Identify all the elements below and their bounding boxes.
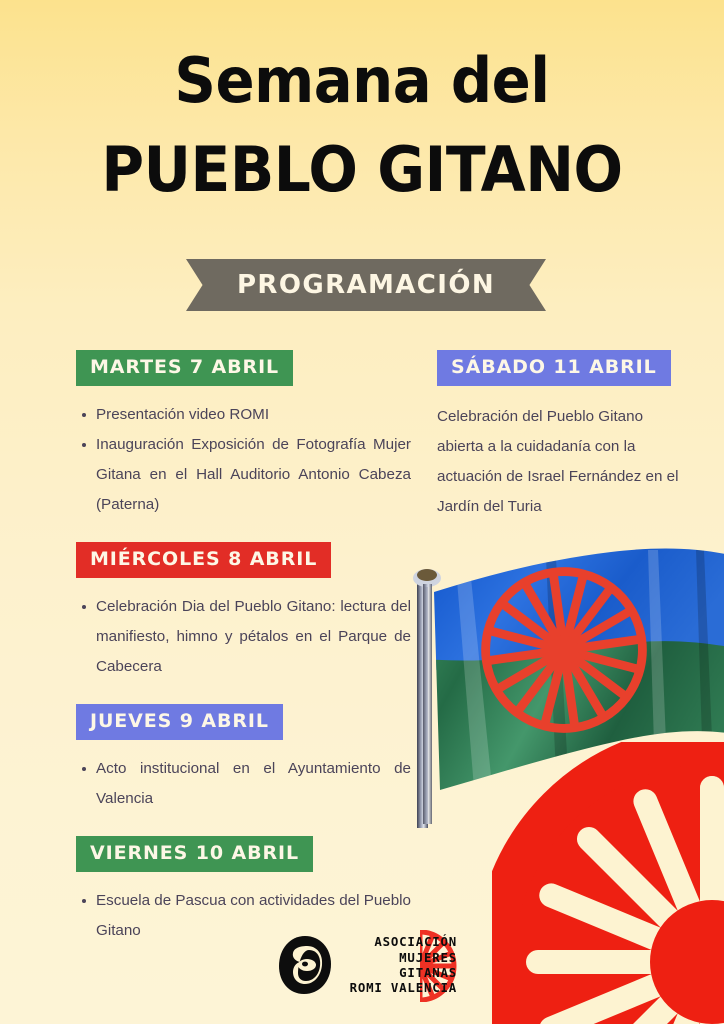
event-items-jueves: Acto institucional en el Ayuntamiento de… [76, 754, 411, 814]
logo-line-4: ROMI VALENCIA [339, 980, 457, 995]
romi-face-mark-icon [277, 934, 333, 996]
event-jueves: JUEVES 9 ABRIL Acto institucional en el … [76, 704, 411, 814]
event-badge-miercoles[interactable]: MIÉRCOLES 8 ABRIL [76, 542, 331, 578]
list-item: Inauguración Exposición de Fotografía Mu… [96, 430, 411, 520]
title-line-2: PUEBLO GITANO [22, 134, 703, 206]
event-items-martes: Presentación video ROMI Inauguración Exp… [76, 400, 411, 520]
event-items-miercoles: Celebración Dia del Pueblo Gitano: lectu… [76, 592, 411, 682]
logo-text-block: ASOCIACIÓN MUJERES GITANAS ROMI VALENCIA [339, 934, 457, 996]
event-badge-sabado[interactable]: SÁBADO 11 ABRIL [437, 350, 671, 386]
event-badge-jueves[interactable]: JUEVES 9 ABRIL [76, 704, 283, 740]
schedule-column-left: MARTES 7 ABRIL Presentación video ROMI I… [76, 350, 411, 950]
poster-title: Semana del PUEBLO GITANO [0, 46, 724, 206]
ribbon-label: PROGRAMACIÓN [237, 270, 495, 300]
schedule-column-right: SÁBADO 11 ABRIL Celebración del Pueblo G… [437, 350, 682, 526]
title-line-1: Semana del [25, 46, 698, 116]
organization-logo: ASOCIACIÓN MUJERES GITANAS ROMI VALENCIA [277, 928, 492, 1002]
programacion-ribbon: PROGRAMACIÓN [186, 259, 546, 311]
romani-flag-image [396, 538, 724, 828]
event-text-sabado: Celebración del Pueblo Gitano abierta a … [437, 402, 682, 522]
poster-canvas: Semana del PUEBLO GITANO PROGRAMACIÓN MA… [0, 0, 724, 1024]
list-item: Acto institucional en el Ayuntamiento de… [96, 754, 411, 814]
event-martes: MARTES 7 ABRIL Presentación video ROMI I… [76, 350, 411, 520]
event-badge-martes[interactable]: MARTES 7 ABRIL [76, 350, 293, 386]
event-miercoles: MIÉRCOLES 8 ABRIL Celebración Dia del Pu… [76, 542, 411, 682]
logo-line-1: ASOCIACIÓN [339, 934, 457, 949]
event-sabado: SÁBADO 11 ABRIL Celebración del Pueblo G… [437, 350, 682, 522]
large-chakra-wheel-icon [492, 742, 724, 1024]
logo-line-2: MUJERES [339, 950, 457, 965]
list-item: Celebración Dia del Pueblo Gitano: lectu… [96, 592, 411, 682]
event-badge-viernes[interactable]: VIERNES 10 ABRIL [76, 836, 313, 872]
logo-line-3: GITANAS [339, 965, 457, 980]
list-item: Presentación video ROMI [96, 400, 411, 430]
